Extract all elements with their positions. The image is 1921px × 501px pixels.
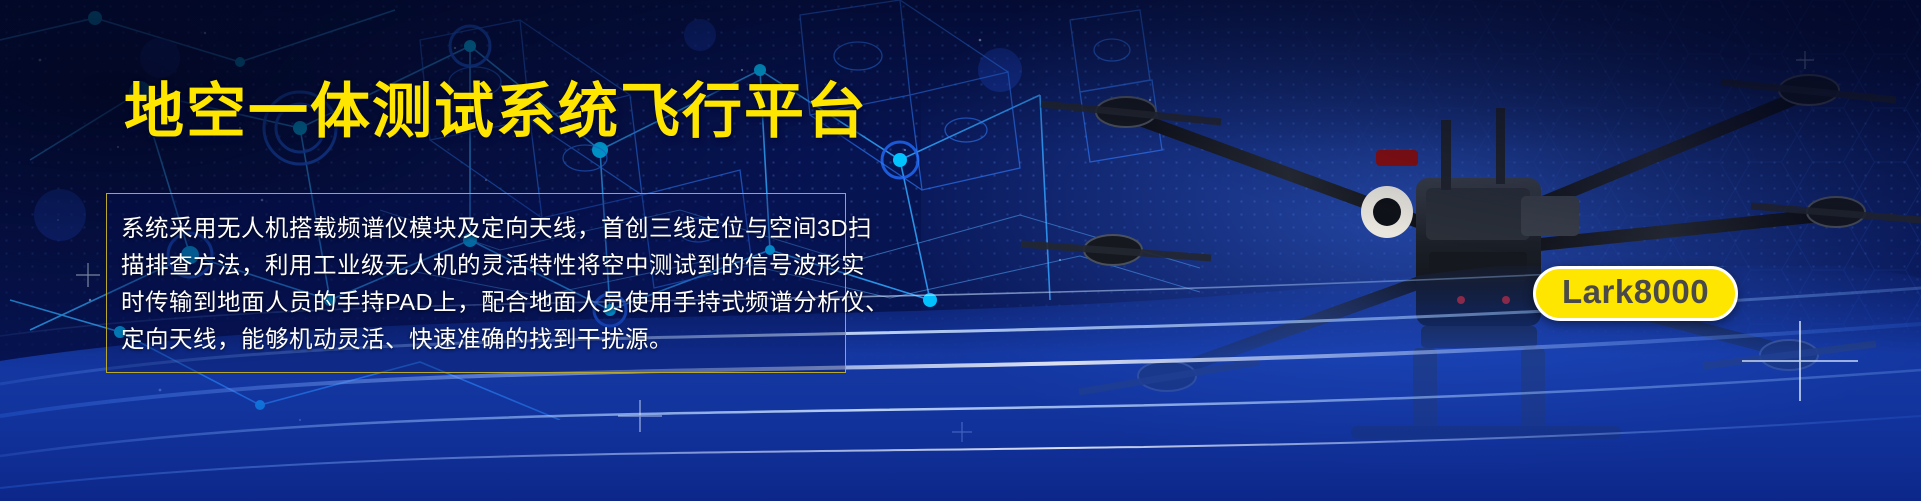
description-line: 定向天线，能够机动灵活、快速准确的找到干扰源。	[121, 321, 831, 358]
page-title: 地空一体测试系统飞行平台	[124, 82, 868, 142]
description-line: 描排查方法，利用工业级无人机的灵活特性将空中测试到的信号波形实	[121, 247, 831, 284]
description-box: 系统采用无人机搭载频谱仪模块及定向天线，首创三线定位与空间3D扫 描排查方法，利…	[106, 193, 846, 373]
promotional-banner: 地空一体测试系统飞行平台 系统采用无人机搭载频谱仪模块及定向天线，首创三线定位与…	[0, 0, 1921, 501]
description-line: 时传输到地面人员的手持PAD上，配合地面人员使用手持式频谱分析仪、	[121, 284, 831, 321]
description-line: 系统采用无人机搭载频谱仪模块及定向天线，首创三线定位与空间3D扫	[121, 210, 831, 247]
product-model-badge: Lark8000	[1533, 266, 1738, 321]
